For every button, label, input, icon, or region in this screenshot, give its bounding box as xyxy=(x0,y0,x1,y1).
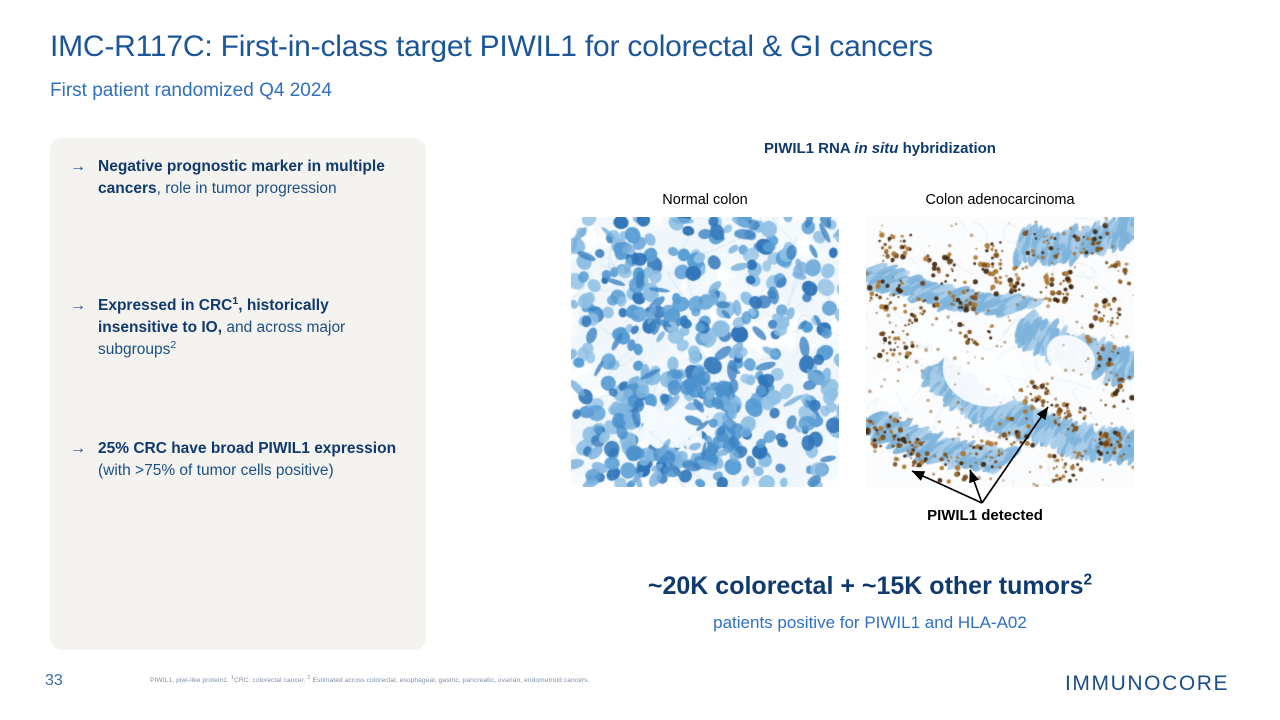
bullet-bold-lead-text: Expressed in CRC xyxy=(98,297,232,314)
caption-normal-colon: Normal colon xyxy=(571,192,839,208)
arrow-right-icon: → xyxy=(70,295,96,318)
immunocore-logo: IMMUNOCORE xyxy=(1065,672,1229,696)
bullet-text: Expressed in CRC1, historically insensit… xyxy=(98,295,410,361)
footnote-mid: CRC: colorectal cancer. xyxy=(234,677,308,684)
piwil1-detected-label: PIWIL1 detected xyxy=(840,507,1130,524)
page-subtitle: First patient randomized Q4 2024 xyxy=(50,80,950,102)
footnote: PIWIL1, piwi-like protein1. 1CRC: colore… xyxy=(150,677,850,684)
bullet-item-2: → Expressed in CRC1, historically insens… xyxy=(70,295,410,361)
footnote-prefix: PIWIL1, piwi-like protein1. xyxy=(150,677,231,684)
bullet-item-1: → Negative prognostic marker in multiple… xyxy=(70,156,410,200)
summary-subline: patients positive for PIWIL1 and HLA-A02 xyxy=(540,613,1200,633)
colon-adenocarcinoma-canvas xyxy=(866,217,1134,487)
footnote-ref-2: 2 xyxy=(1083,572,1092,589)
ish-heading-post: hybridization xyxy=(898,140,996,157)
caption-colon-adenocarcinoma: Colon adenocarcinoma xyxy=(866,192,1134,208)
bullet-text: Negative prognostic marker in multiple c… xyxy=(98,156,410,200)
footnote-suffix: Estimated across colorectal, esophageal,… xyxy=(311,677,590,684)
normal-colon-micrograph xyxy=(571,217,839,487)
bullet-item-3: → 25% CRC have broad PIWIL1 expression (… xyxy=(70,438,410,482)
page-number: 33 xyxy=(45,672,63,690)
normal-colon-canvas xyxy=(571,217,839,487)
slide-root: IMC-R117C: First-in-class target PIWIL1 … xyxy=(0,0,1280,720)
page-title: IMC-R117C: First-in-class target PIWIL1 … xyxy=(50,30,1230,64)
summary-headline: ~20K colorectal + ~15K other tumors2 xyxy=(540,572,1200,601)
arrow-right-icon: → xyxy=(70,438,96,461)
key-points-panel: → Negative prognostic marker in multiple… xyxy=(50,138,426,650)
ish-section-heading: PIWIL1 RNA in situ hybridization xyxy=(560,140,1200,157)
colon-adenocarcinoma-micrograph xyxy=(866,217,1134,487)
bullet-rest: (with >75% of tumor cells positive) xyxy=(98,462,334,479)
ish-heading-italic: in situ xyxy=(854,140,898,157)
bullet-bold-lead: 25% CRC have broad PIWIL1 expression xyxy=(98,440,396,457)
ish-heading-pre: PIWIL1 RNA xyxy=(764,140,854,157)
arrow-right-icon: → xyxy=(70,156,96,179)
bullet-text: 25% CRC have broad PIWIL1 expression (wi… xyxy=(98,438,410,482)
summary-headline-text: ~20K colorectal + ~15K other tumors xyxy=(648,572,1084,600)
footnote-ref-2: 2 xyxy=(170,339,176,351)
bullet-rest: , role in tumor progression xyxy=(157,180,337,197)
